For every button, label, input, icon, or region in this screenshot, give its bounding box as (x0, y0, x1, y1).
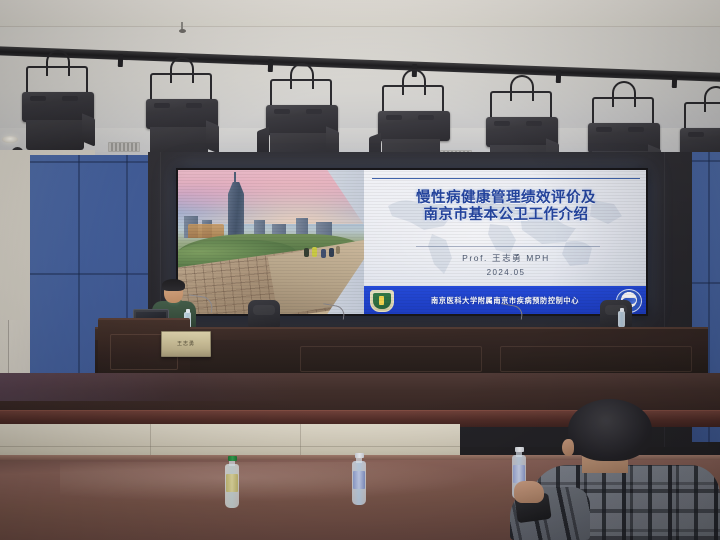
audience-member (520, 395, 720, 540)
presenter-nameplate: 王志勇 (161, 331, 211, 357)
led-display-wall: 慢性病健康管理绩效评价及 南京市基本公卫工作介绍 Prof. 王志勇 MPH 2… (176, 168, 648, 316)
truss-bracket (556, 70, 561, 83)
presenter-microphone (188, 296, 214, 314)
light-yoke (150, 73, 212, 101)
light-housing (378, 111, 450, 141)
bottle-label (226, 474, 238, 492)
visitor-figure (312, 247, 317, 257)
ceiling-vent (108, 142, 140, 152)
microphone-gooseneck-icon (187, 294, 214, 312)
slide-top-rule (372, 178, 640, 179)
slide-title-line-2: 南京市基本公卫工作介绍 (364, 207, 648, 224)
nameplate-text: 王志勇 (162, 340, 210, 347)
slide-title-line-1: 慢性病健康管理绩效评价及 (364, 190, 648, 207)
hand (514, 481, 544, 503)
visitor-figure (304, 248, 309, 257)
conference-hall-photo: 慢性病健康管理绩效评价及 南京市基本公卫工作介绍 Prof. 王志勇 MPH 2… (0, 0, 720, 540)
stage-chair (248, 300, 280, 328)
ceiling-front-edge (0, 0, 720, 27)
ceiling-downlight (2, 136, 18, 143)
ear (562, 439, 574, 456)
dais-water-bottle (618, 311, 625, 328)
truss-bracket (268, 59, 273, 72)
truss-bracket (118, 54, 123, 67)
sprinkler-head-icon (180, 22, 185, 33)
bottle-label (353, 471, 365, 489)
slide-title: 慢性病健康管理绩效评价及 南京市基本公卫工作介绍 (364, 190, 648, 224)
stage-chair (600, 300, 632, 328)
floor-reflection (0, 373, 300, 401)
light-yoke (684, 102, 720, 130)
head-hair (568, 399, 652, 461)
slide-date: 2024.05 (364, 268, 648, 277)
slide-author: Prof. 王志勇 MPH (364, 252, 648, 264)
slide-divider-rule (416, 246, 600, 247)
bottle-cap (355, 453, 364, 458)
light-yoke (270, 79, 332, 107)
dais-molding (300, 346, 482, 372)
table-reflection (60, 462, 480, 502)
light-barn-flap-right (206, 120, 219, 153)
dais-molding (500, 346, 692, 372)
light-barn-door (26, 120, 84, 150)
visitor-figure (321, 249, 326, 258)
light-yoke (382, 85, 444, 113)
light-yoke (592, 97, 654, 125)
visitor-figure (329, 248, 334, 257)
university-shield-logo-icon (370, 290, 394, 312)
light-barn-flap-right (82, 113, 95, 146)
slide-content-panel: 慢性病健康管理绩效评价及 南京市基本公卫工作介绍 Prof. 王志勇 MPH 2… (364, 168, 648, 316)
bottle-cap (228, 456, 237, 461)
truss-bracket (672, 75, 677, 88)
light-yoke (490, 91, 552, 119)
light-yoke (26, 66, 88, 94)
visitor-figure (336, 246, 340, 254)
slide-photo-nanjing-city-wall (176, 168, 366, 316)
presenter-hair (162, 279, 185, 291)
